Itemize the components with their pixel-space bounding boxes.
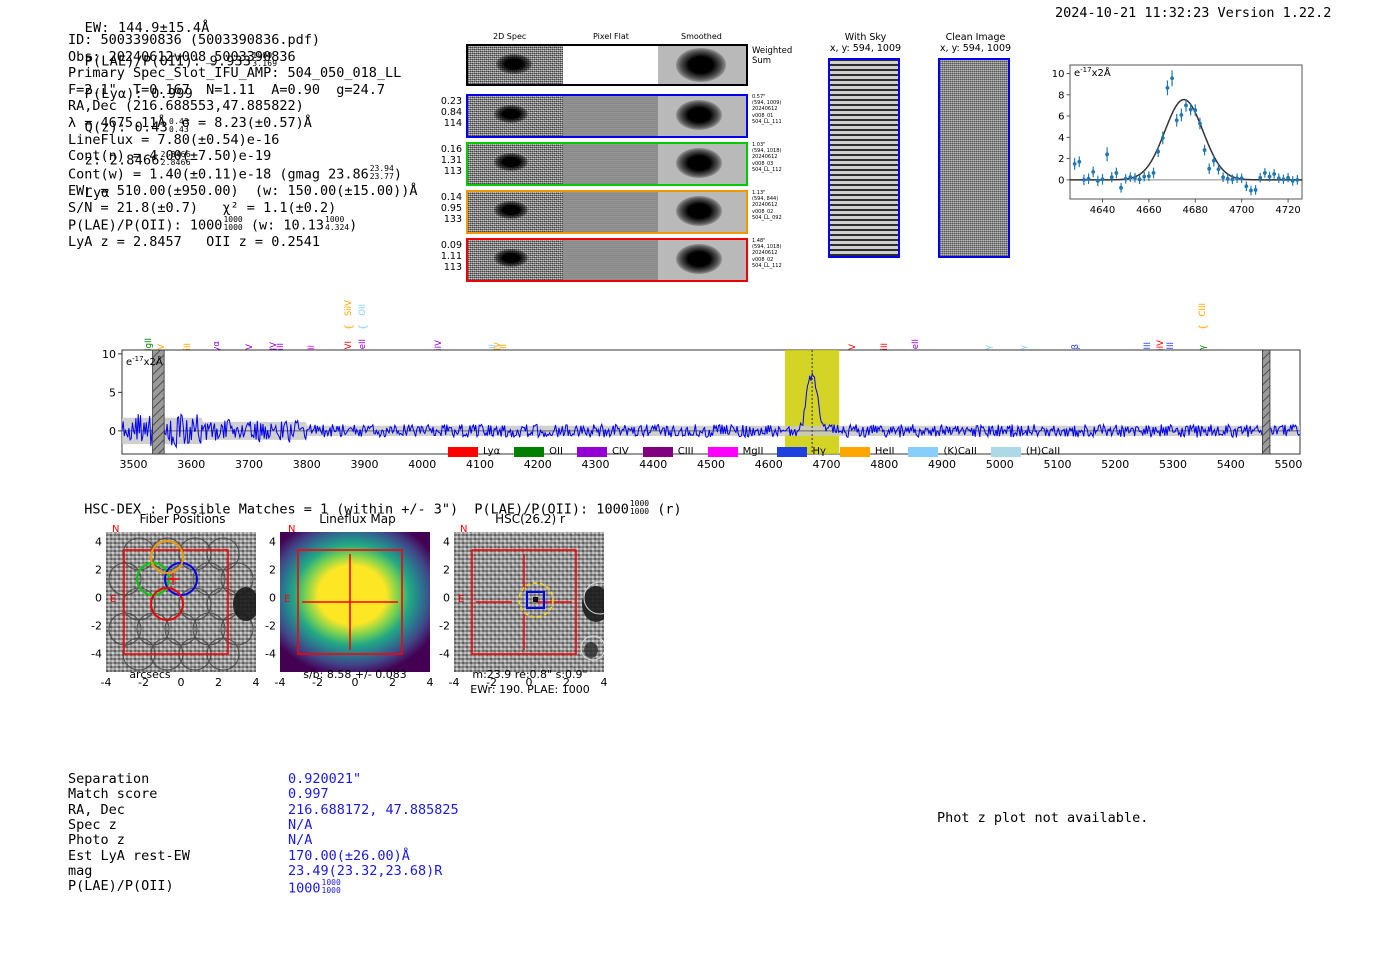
spectrum-legend: LyαOIICIVCIIIMgIIHγHeII(K)CaII(H)CaII (448, 446, 1074, 457)
match-row-label: Match score (68, 787, 157, 802)
svg-text:6: 6 (1058, 112, 1064, 123)
hsc-compass-n: N (460, 524, 467, 535)
info-obs: Obs: 20240612v008_5003390836 (68, 49, 418, 66)
cutout-xtick: 4 (427, 676, 434, 689)
svg-text:4680: 4680 (1183, 205, 1208, 216)
match-row-label: Photo z (68, 833, 125, 848)
with-sky-image (828, 58, 900, 258)
legend-item: CIV (577, 446, 629, 457)
emission-line-label: SiIV (344, 300, 354, 316)
fiber-row-values: 0.140.95133 (434, 192, 462, 225)
spectrum-xtick: 3900 (351, 458, 379, 471)
legend-swatch (908, 447, 938, 457)
spectrum-xtick: 4000 (408, 458, 436, 471)
spectrum-xtick: 5300 (1159, 458, 1187, 471)
spectrum-xtick: 3500 (120, 458, 148, 471)
spectrum-xtick: 5500 (1274, 458, 1302, 471)
legend-label: (H)CaII (1026, 446, 1060, 457)
cutout-xtick: -4 (449, 676, 460, 689)
fiber-positions-image (106, 532, 256, 672)
info-radec: RA,Dec (216.688553,47.885822) (68, 98, 418, 115)
lineflux-compass-n: N (288, 524, 295, 535)
legend-swatch (777, 447, 807, 457)
match-row-label: mag (68, 864, 92, 879)
cutout-ytick: 2 (254, 564, 276, 577)
spectrum-xtick: 4200 (524, 458, 552, 471)
spectrum-xtick: 5000 (986, 458, 1014, 471)
legend-swatch (991, 447, 1021, 457)
detection-info-block: ID: 5003390836 (5003390836.pdf) Obs: 202… (68, 32, 418, 251)
svg-text:e-17x2Å: e-17x2Å (126, 355, 163, 368)
spectrum-xtick: 4100 (466, 458, 494, 471)
cutout-ytick: 0 (254, 592, 276, 605)
emission-line-bracket: { (1198, 324, 1209, 330)
spectrum-xtick: 4400 (639, 458, 667, 471)
legend-label: HeII (875, 446, 895, 457)
info-id: ID: 5003390836 (5003390836.pdf) (68, 32, 418, 49)
lineflux-map-title: Lineflux Map (270, 512, 445, 526)
cutout-ytick: -4 (254, 648, 276, 661)
fiber-spectrum-row (466, 190, 748, 234)
match-row-value: N/A (288, 833, 312, 848)
emission-line-bracket: { (358, 324, 369, 330)
match-row-value: 100010001000 (288, 879, 341, 897)
spectrum-xtick: 4600 (755, 458, 783, 471)
info-cont-w: Cont(w) = 1.40(±0.11)e-18 (gmag 23.8623.… (68, 165, 418, 183)
svg-text:0: 0 (1058, 175, 1064, 186)
match-row-label: P(LAE)/P(OII) (68, 879, 174, 894)
spectrum-xtick: 4500 (697, 458, 725, 471)
lineflux-overlay (280, 532, 430, 672)
legend-label: (K)CaII (943, 446, 976, 457)
cutout-ytick: 4 (428, 536, 450, 549)
cutout-ytick: -2 (80, 620, 102, 633)
info-plae: P(LAE)/P(OII): 100010001000 (w: 10.13100… (68, 216, 418, 234)
lineflux-map-image (280, 532, 430, 672)
cutout-panels: Fiber Positions N E arcsecs Lineflux Map (40, 508, 640, 738)
match-row-label: Spec z (68, 818, 117, 833)
legend-label: CIII (678, 446, 694, 457)
clean-image (938, 58, 1010, 258)
info-lambda: λ = 4675.11Å σ = 8.23(±0.57)Å (68, 115, 418, 132)
line-profile-plot: 024681046404660468047004720e-17x2Å (1036, 55, 1308, 225)
spectrum-xtick: 3700 (235, 458, 263, 471)
cutout-xtick: -4 (275, 676, 286, 689)
fiber-positions-title: Fiber Positions (95, 512, 270, 526)
column-title-2dspec: 2D Spec (493, 32, 526, 41)
hsc-overlay (454, 532, 604, 672)
svg-text:4700: 4700 (1229, 205, 1254, 216)
cutout-ytick: -2 (428, 620, 450, 633)
emission-line-label: CIII (1198, 303, 1208, 316)
cutout-ytick: -2 (254, 620, 276, 633)
info-cont-n: Cont(n) = 4.00(±7.50)e-19 (68, 148, 418, 165)
legend-swatch (840, 447, 870, 457)
match-row-value: 0.920021" (288, 772, 361, 787)
fiber-overlay (106, 532, 256, 672)
spectrum-svg: 0510e-17x2Å (60, 348, 1310, 458)
emission-line-labels: MgII{NV{SiII{Lyα{NV{CIV{SiII{CII{OVI{SiI… (60, 276, 1310, 356)
match-row-value: 216.688172, 47.885825 (288, 803, 459, 818)
cutout-ytick: 0 (80, 592, 102, 605)
legend-swatch (643, 447, 673, 457)
match-row-value: 0.997 (288, 787, 329, 802)
cutout-ytick: 4 (254, 536, 276, 549)
hsc-compass-e: E (458, 594, 464, 605)
cutout-xtick: -2 (486, 676, 497, 689)
legend-label: Lyα (483, 446, 500, 457)
fiber-spectrum-row (466, 142, 748, 186)
legend-item: Lyα (448, 446, 500, 457)
spectrum-xtick: 4800 (870, 458, 898, 471)
fiber-row-values: 0.091.11113 (434, 240, 462, 273)
fiber-compass-n: N (112, 524, 119, 535)
timestamp-version: 2024-10-21 11:32:23 Version 1.22.2 (1055, 5, 1331, 21)
legend-swatch (514, 447, 544, 457)
cutout-xtick: 2 (563, 676, 570, 689)
cutout-ytick: 2 (428, 564, 450, 577)
svg-text:10: 10 (1052, 69, 1065, 80)
fiber-row-metadata: 0.57" (594, 1009) 20240612 v008_01 504_L… (752, 94, 782, 125)
legend-item: CIII (643, 446, 694, 457)
legend-swatch (708, 447, 738, 457)
cutout-xtick: -2 (138, 676, 149, 689)
emission-line-label: OII (358, 304, 368, 316)
clean-image-title: Clean Image x, y: 594, 1009 (928, 32, 1023, 54)
match-row-label: Est LyA rest-EW (68, 849, 190, 864)
cutout-xtick: 4 (253, 676, 260, 689)
cutout-ytick: 4 (80, 536, 102, 549)
cutout-xtick: 0 (526, 676, 533, 689)
cutout-xtick: 2 (389, 676, 396, 689)
sky-clean-panels: With Sky x, y: 594, 1009 Clean Image x, … (818, 32, 1033, 247)
info-ewr: EWr = 510.00(±950.00) (w: 150.00(±15.00)… (68, 183, 418, 200)
match-row-value: 170.00(±26.00)Å (288, 849, 410, 864)
match-row-value: N/A (288, 818, 312, 833)
emission-line-bracket: { (344, 324, 355, 330)
spectrum-xtick: 3600 (177, 458, 205, 471)
svg-text:4640: 4640 (1090, 205, 1115, 216)
cutout-xtick: -4 (101, 676, 112, 689)
spectrum-xtick: 5100 (1043, 458, 1071, 471)
legend-swatch (577, 447, 607, 457)
cutout-xtick: -2 (312, 676, 323, 689)
legend-item: OII (514, 446, 563, 457)
svg-text:4720: 4720 (1275, 205, 1300, 216)
spectrum-xtick: 3800 (293, 458, 321, 471)
fiber-row-values: 0.230.84114 (434, 96, 462, 129)
legend-item: MgII (708, 446, 764, 457)
spectrum-xtick: 4700 (812, 458, 840, 471)
match-properties-table: Separation0.920021"Match score0.997RA, D… (68, 772, 488, 902)
svg-text:2: 2 (1058, 154, 1064, 165)
legend-label: Hγ (812, 446, 825, 457)
cutout-ytick: -4 (428, 648, 450, 661)
cutout-ytick: 2 (80, 564, 102, 577)
info-seeing: F=2.1" T=0.167 N=1.11 A=0.90 g=24.7 (68, 82, 418, 99)
svg-text:0: 0 (109, 425, 116, 438)
fiber-row-metadata: 1.03" (594, 1018) 20240612 v008_03 504_L… (752, 142, 782, 173)
svg-text:5: 5 (109, 386, 116, 399)
legend-label: MgII (743, 446, 764, 457)
cutout-ytick: -4 (80, 648, 102, 661)
column-title-smoothed: Smoothed (681, 32, 722, 41)
cutout-xtick: 2 (215, 676, 222, 689)
cutout-ytick: 0 (428, 592, 450, 605)
column-title-pixelflat: Pixel Flat (593, 32, 629, 41)
match-row-label: RA, Dec (68, 803, 125, 818)
legend-swatch (448, 447, 478, 457)
legend-item: Hγ (777, 446, 825, 457)
legend-item: (K)CaII (908, 446, 976, 457)
spectrum-xtick: 5400 (1217, 458, 1245, 471)
weighted-sum-row (466, 44, 748, 86)
cutout-xtick: 0 (352, 676, 359, 689)
full-spectrum-plot: MgII{NV{SiII{Lyα{NV{CIV{SiII{CII{OVI{SiI… (60, 276, 1310, 466)
info-snr: S/N = 21.8(±0.7) χ² = 1.1(±0.2) (68, 200, 418, 217)
svg-text:4: 4 (1058, 133, 1064, 144)
fiber-row-metadata: 1.13" (594, 844) 20240612 v008_02 504_LL… (752, 190, 782, 221)
legend-label: CIV (612, 446, 629, 457)
match-row-value: 23.49(23.32,23.68)R (288, 864, 442, 879)
spectra-montage: 2D Spec Pixel Flat Smoothed Weighted Sum… (436, 32, 756, 247)
spectrum-xtick: 4900 (928, 458, 956, 471)
cutout-xtick: 0 (178, 676, 185, 689)
legend-item: (H)CaII (991, 446, 1060, 457)
legend-label: OII (549, 446, 563, 457)
spectrum-xtick: 4300 (582, 458, 610, 471)
fiber-spectrum-row (466, 94, 748, 138)
info-redshifts: LyA z = 2.8457 OII z = 0.2541 (68, 234, 418, 251)
photz-message: Phot z plot not available. (937, 810, 1148, 826)
with-sky-title: With Sky x, y: 594, 1009 (818, 32, 913, 54)
lineflux-compass-e: E (284, 594, 290, 605)
info-primary: Primary Spec_Slot_IFU_AMP: 504_050_018_L… (68, 65, 418, 82)
line-profile-svg: 024681046404660468047004720e-17x2Å (1036, 55, 1308, 225)
svg-text:8: 8 (1058, 90, 1064, 101)
spectrum-xtick: 5200 (1101, 458, 1129, 471)
info-lineflux: LineFlux = 7.80(±0.54)e-16 (68, 132, 418, 149)
fiber-row-metadata: 1.48" (594, 1018) 20240612 v008_02 504_L… (752, 238, 782, 269)
cutout-xtick: 4 (601, 676, 608, 689)
fiber-compass-e: E (110, 594, 116, 605)
svg-text:e-17x2Å: e-17x2Å (1074, 66, 1111, 79)
match-row-label: Separation (68, 772, 149, 787)
svg-text:10: 10 (102, 348, 116, 361)
fiber-row-values: 0.161.31113 (434, 144, 462, 177)
hsc-r-image (454, 532, 604, 672)
svg-text:4660: 4660 (1136, 205, 1161, 216)
weighted-sum-label: Weighted Sum (752, 46, 792, 66)
legend-item: HeII (840, 446, 895, 457)
